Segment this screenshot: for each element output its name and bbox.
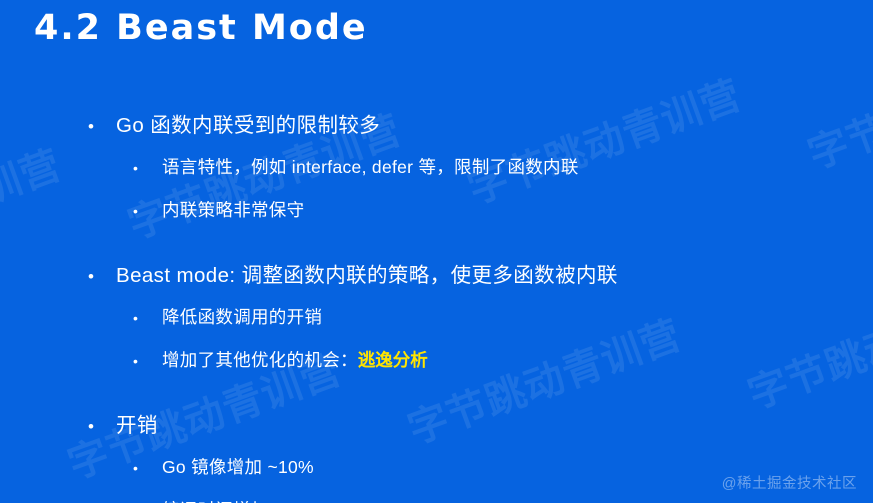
bullet-item-level2: • 降低函数调用的开销 (0, 304, 873, 343)
presentation-slide: 字节跳动青训营 字节跳动青训营 字节跳动青训营 字节跳动青训营 字节跳动青训营 … (0, 0, 873, 503)
group-spacer (0, 240, 873, 258)
bullet-text: Beast mode: 调整函数内联的策略，使更多函数被内联 (116, 258, 618, 288)
bullet-marker: • (133, 204, 162, 218)
bullet-text: Go 函数内联受到的限制较多 (116, 108, 380, 138)
slide-title: 4.2 Beast Mode (34, 8, 368, 48)
bullet-marker: • (88, 118, 116, 135)
bullet-text: 降低函数调用的开销 (162, 304, 322, 329)
bullet-marker: • (133, 354, 162, 368)
bullet-text: 开销 (116, 408, 158, 438)
bullet-text: 增加了其他优化的机会： (162, 347, 358, 372)
group-spacer (0, 390, 873, 408)
bullet-marker: • (88, 418, 116, 435)
source-watermark: @稀土掘金技术社区 (722, 472, 857, 493)
bullet-marker: • (88, 268, 116, 285)
bullet-marker: • (133, 461, 162, 475)
slide-body: • Go 函数内联受到的限制较多 • 语言特性，例如 interface, de… (0, 108, 873, 503)
bullet-item-level1: • 开销 (0, 408, 873, 448)
bullet-text: 语言特性，例如 interface, defer 等，限制了函数内联 (162, 154, 579, 179)
highlighted-term: 逃逸分析 (358, 347, 428, 372)
bullet-item-level2: • 内联策略非常保守 (0, 197, 873, 236)
bullet-text: Go 镜像增加 ~10% (162, 454, 314, 479)
bullet-text: 编译时间增加 (162, 497, 269, 503)
bullet-item-level2: • 编译时间增加 (0, 497, 873, 503)
bullet-marker: • (133, 311, 162, 325)
bullet-marker: • (133, 161, 162, 175)
bullet-item-level1: • Go 函数内联受到的限制较多 (0, 108, 873, 148)
bullet-item-level2: • 语言特性，例如 interface, defer 等，限制了函数内联 (0, 154, 873, 193)
bullet-item-level1: • Beast mode: 调整函数内联的策略，使更多函数被内联 (0, 258, 873, 298)
bullet-text: 内联策略非常保守 (162, 197, 304, 222)
bullet-item-level2: • 增加了其他优化的机会：逃逸分析 (0, 347, 873, 386)
